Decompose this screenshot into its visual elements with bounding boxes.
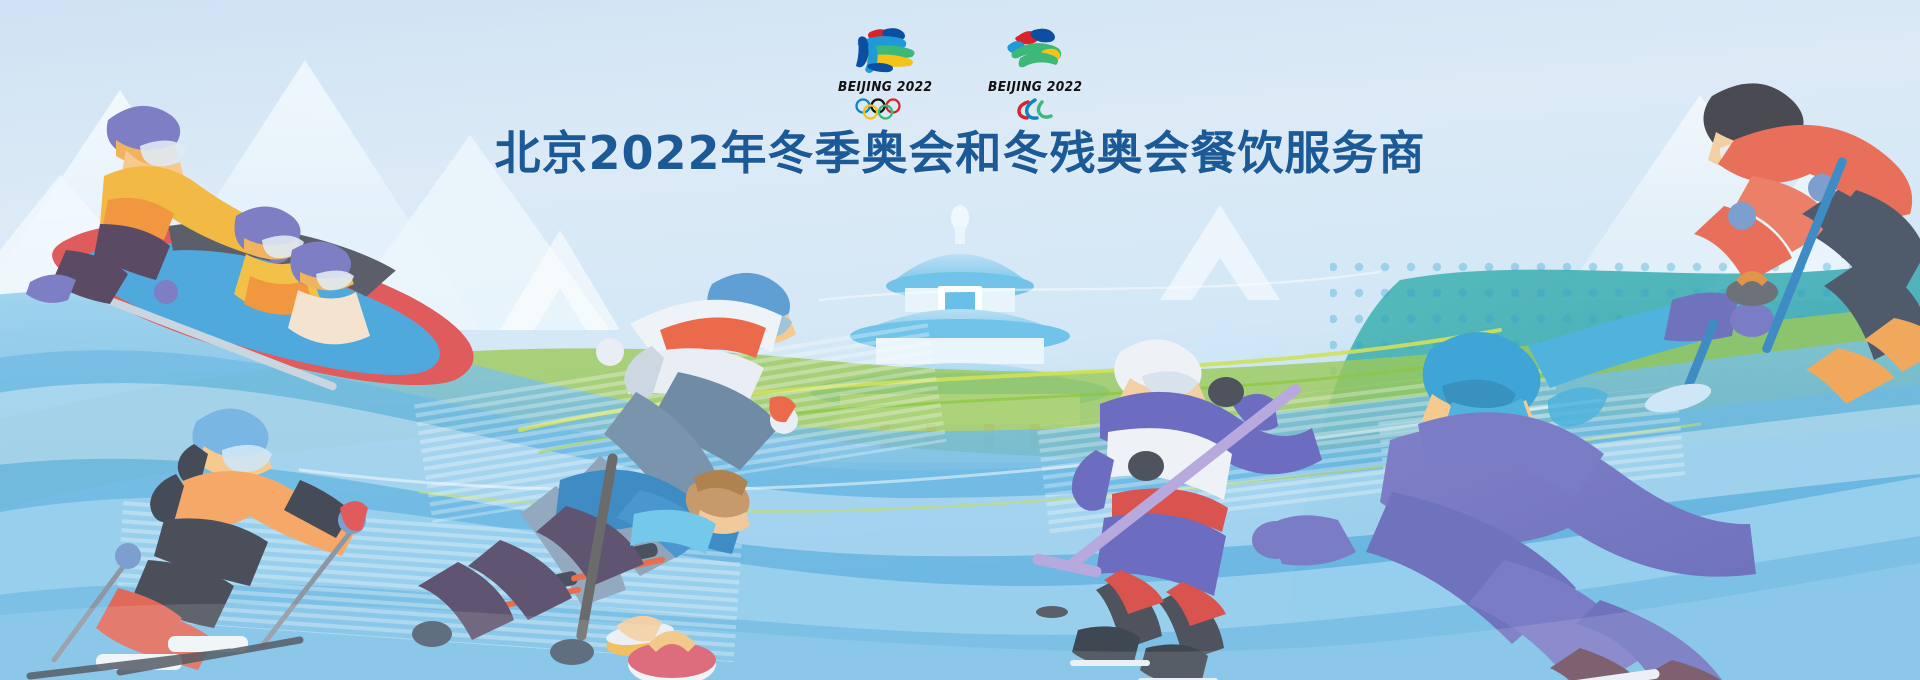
beijing-2022-banner: BEIJING 2022 BEIJING 20 xyxy=(0,0,1920,680)
glove xyxy=(1252,521,1300,559)
glove xyxy=(596,338,624,366)
glove xyxy=(1728,202,1756,230)
glove xyxy=(115,543,141,569)
scene-illustration xyxy=(0,0,1920,680)
hockey-puck xyxy=(1036,606,1068,618)
glove xyxy=(154,280,178,304)
